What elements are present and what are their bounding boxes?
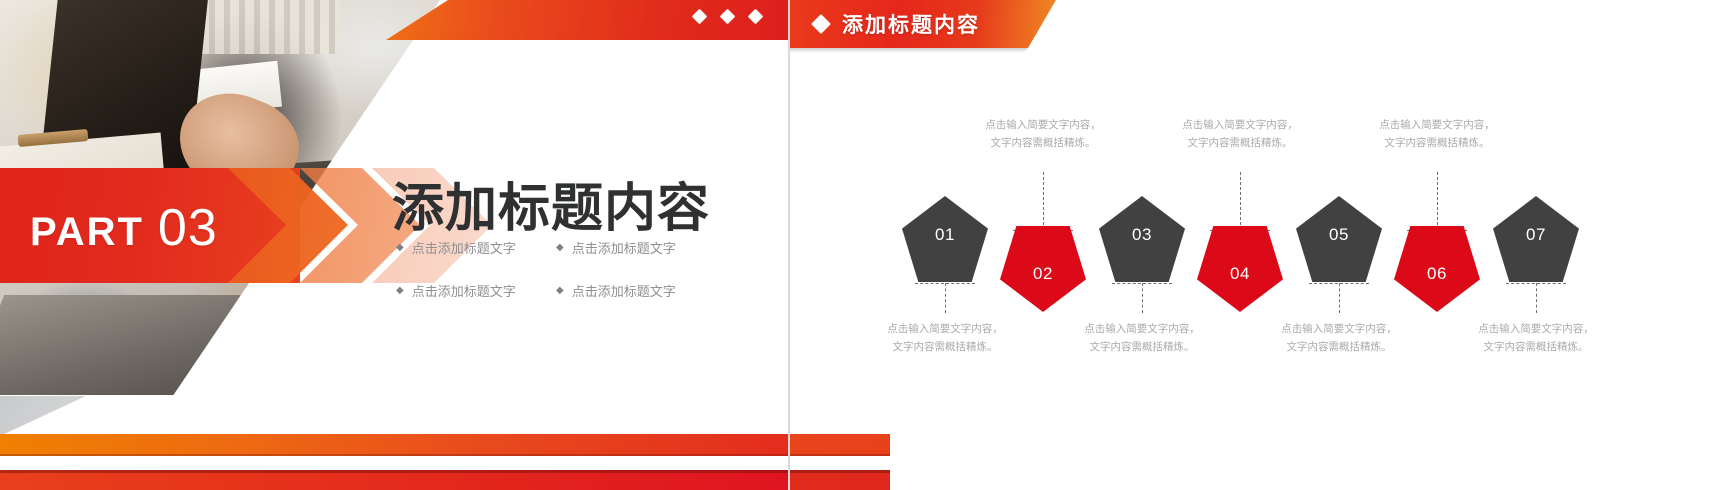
caption-line-1: 点击输入简要文字内容， [968,116,1118,134]
list-item[interactable]: ◆ 点击添加标题文字 [556,238,706,257]
list-item-label: 点击添加标题文字 [412,281,516,300]
step-node-03[interactable]: 03 [1099,196,1185,282]
caption-line-2: 文字内容需概括精炼。 [1067,338,1217,356]
caption-line-2: 文字内容需概括精炼。 [1165,134,1315,152]
list-item[interactable]: ◆ 点击添加标题文字 [556,281,706,300]
caption-line-1: 点击输入简要文字内容， [1461,320,1611,338]
step-caption-04: 点击输入简要文字内容， 文字内容需概括精炼。 [1165,116,1315,153]
step-number-02: 02 [1033,264,1053,284]
diamond-icon [748,9,764,25]
caption-line-1: 点击输入简要文字内容， [1067,320,1217,338]
diamond-icon [720,9,736,25]
diamond-icon [692,9,708,25]
diamond-bullet-icon: ◆ [396,242,404,253]
list-item-label: 点击添加标题文字 [412,238,516,257]
step-caption-05: 点击输入简要文字内容， 文字内容需概括精炼。 [1264,320,1414,357]
step-caption-01: 点击输入简要文字内容， 文字内容需概括精炼。 [870,320,1020,357]
footer-bar-secondary [0,470,788,490]
footer-bar-mask [890,430,1720,490]
step-node-07[interactable]: 07 [1493,196,1579,282]
list-item[interactable]: ◆ 点击添加标题文字 [396,281,546,300]
part-badge: PART 03 [30,198,218,258]
step-node-04[interactable]: 04 [1197,226,1283,312]
top-diamond-group [694,11,761,22]
step-node-05[interactable]: 05 [1296,196,1382,282]
step-caption-02: 点击输入简要文字内容， 文字内容需概括精炼。 [968,116,1118,153]
part-number: 03 [158,198,218,258]
step-node-01[interactable]: 01 [902,196,988,282]
connector-line-02 [1043,172,1044,230]
page-title: 添加标题内容 [392,166,710,241]
caption-line-2: 文字内容需概括精炼。 [968,134,1118,152]
step-number-07: 07 [1526,225,1546,245]
step-number-04: 04 [1230,264,1250,284]
caption-line-1: 点击输入简要文字内容， [1362,116,1512,134]
part-label-text: PART [30,210,144,255]
connector-line-04 [1240,172,1241,230]
caption-line-1: 点击输入简要文字内容， [870,320,1020,338]
caption-line-2: 文字内容需概括精炼。 [870,338,1020,356]
diamond-bullet-icon: ◆ [556,242,564,253]
caption-line-2: 文字内容需概括精炼。 [1461,338,1611,356]
caption-line-1: 点击输入简要文字内容， [1165,116,1315,134]
bullet-list: ◆ 点击添加标题文字 ◆ 点击添加标题文字 ◆ 点击添加标题文字 ◆ 点击添加标… [396,238,716,300]
step-caption-03: 点击输入简要文字内容， 文字内容需概括精炼。 [1067,320,1217,357]
connector-line-07 [1536,283,1537,313]
list-item[interactable]: ◆ 点击添加标题文字 [396,238,546,257]
step-node-06[interactable]: 06 [1394,226,1480,312]
connector-line-05 [1339,283,1340,313]
diamond-bullet-icon: ◆ [396,285,404,296]
step-node-02[interactable]: 02 [1000,226,1086,312]
slide-right: 添加标题内容 点击输入简要文字内容， 文字内容需概括精炼。 点击输入简要文字内容… [790,0,1720,490]
connector-line-01 [945,283,946,313]
presentation-slides-canvas: PART 03 添加标题内容 ◆ 点击添加标题文字 ◆ 点击添加标题文字 ◆ 点… [0,0,1720,490]
caption-line-2: 文字内容需概括精炼。 [1264,338,1414,356]
caption-line-1: 点击输入简要文字内容， [1264,320,1414,338]
list-item-label: 点击添加标题文字 [572,281,676,300]
diamond-bullet-icon: ◆ [556,285,564,296]
list-item-label: 点击添加标题文字 [572,238,676,257]
slide-left: PART 03 添加标题内容 ◆ 点击添加标题文字 ◆ 点击添加标题文字 ◆ 点… [0,0,788,490]
pentagon-process-diagram: 点击输入简要文字内容， 文字内容需概括精炼。 点击输入简要文字内容， 文字内容需… [790,0,1720,490]
step-caption-06: 点击输入简要文字内容， 文字内容需概括精炼。 [1362,116,1512,153]
footer-bar-primary [0,434,788,456]
step-number-05: 05 [1329,225,1349,245]
step-number-03: 03 [1132,225,1152,245]
step-number-06: 06 [1427,264,1447,284]
caption-line-2: 文字内容需概括精炼。 [1362,134,1512,152]
step-number-01: 01 [935,225,955,245]
step-caption-07: 点击输入简要文字内容， 文字内容需概括精炼。 [1461,320,1611,357]
connector-line-03 [1142,283,1143,313]
connector-line-06 [1437,172,1438,230]
